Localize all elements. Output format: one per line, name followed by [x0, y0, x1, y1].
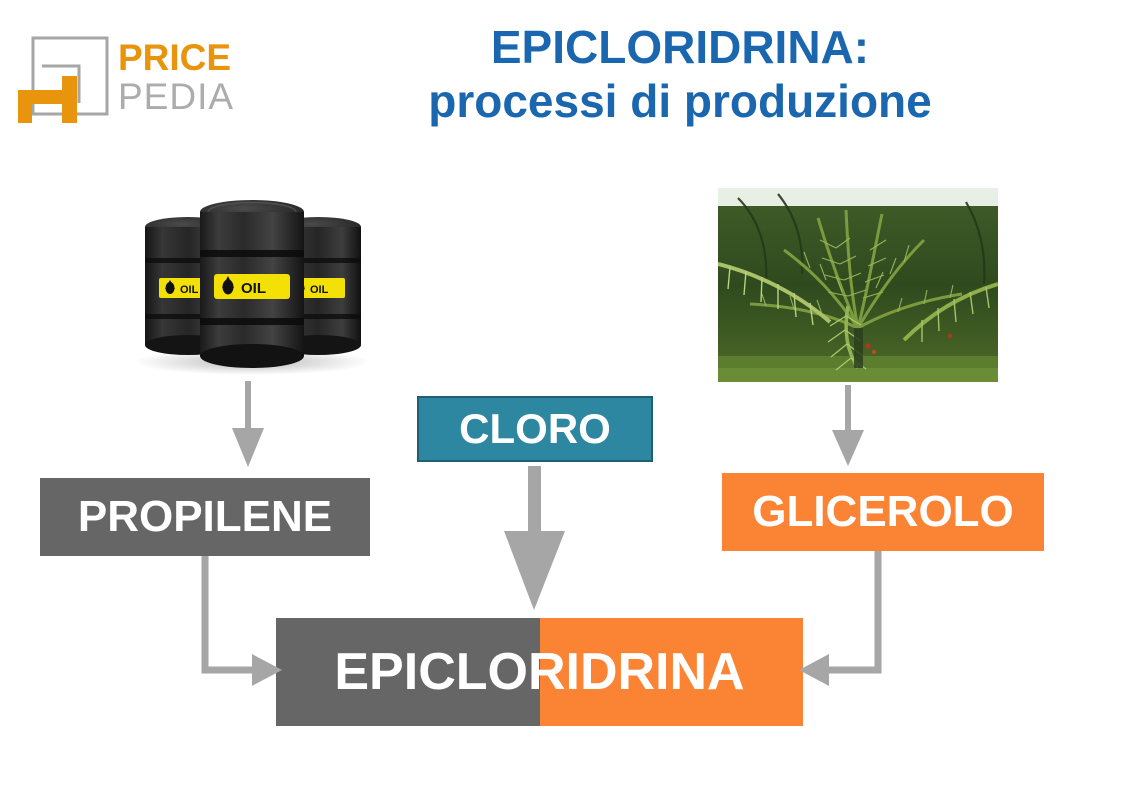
- logo-word-price: PRICE: [118, 39, 243, 77]
- pricepedia-logo-text: PRICE PEDIA: [118, 39, 243, 129]
- svg-text:OIL: OIL: [241, 280, 266, 297]
- arrow-drums-to-propilene: [232, 381, 264, 467]
- oil-drum-center: OIL: [200, 200, 304, 368]
- node-epicloridrina-label: EPICLORIDRINA: [334, 642, 744, 702]
- arrow-palm-to-glicerolo: [832, 385, 864, 466]
- pricepedia-logo[interactable]: PRICE PEDIA: [14, 33, 239, 133]
- arrow-propilene-to-epicloridrina: [205, 556, 282, 686]
- page-title-line-2: processi di produzione: [250, 74, 1110, 128]
- node-glicerolo-label: GLICEROLO: [752, 487, 1014, 537]
- svg-text:OIL: OIL: [310, 284, 329, 296]
- logo-word-pedia: PEDIA: [118, 77, 243, 117]
- svg-text:OIL: OIL: [180, 284, 199, 296]
- arrow-cloro-to-epicloridrina: [504, 466, 565, 610]
- page-title-line-1: EPICLORIDRINA:: [250, 20, 1110, 74]
- oil-drums-photo: OIL OIL OIL: [130, 190, 375, 375]
- node-cloro[interactable]: CLORO: [417, 396, 653, 462]
- node-propilene[interactable]: PROPILENE: [40, 478, 370, 556]
- arrow-glicerolo-to-epicloridrina: [799, 551, 878, 686]
- pricepedia-logo-mark: [14, 33, 114, 133]
- node-propilene-label: PROPILENE: [78, 492, 332, 542]
- node-epicloridrina[interactable]: EPICLORIDRINA: [276, 618, 803, 726]
- palm-plantation-photo: [718, 188, 998, 382]
- slide-canvas: PRICE PEDIA EPICLORIDRINA: processi di p…: [0, 0, 1121, 793]
- node-cloro-label: CLORO: [459, 405, 611, 453]
- node-glicerolo[interactable]: GLICEROLO: [722, 473, 1044, 551]
- page-title: EPICLORIDRINA: processi di produzione: [250, 20, 1110, 128]
